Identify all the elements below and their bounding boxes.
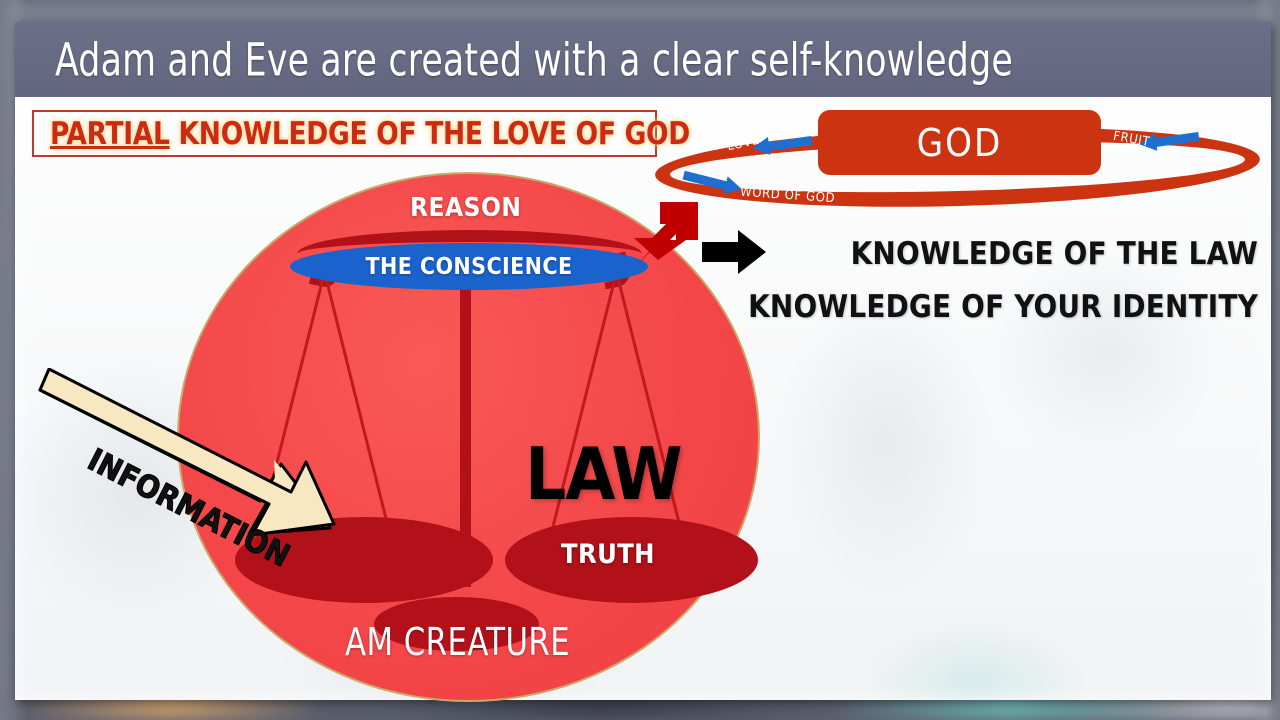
partial-knowledge-text: PARTIAL KNOWLEDGE OF THE LOVE OF GOD — [50, 116, 690, 152]
header-band: Adam and Eve are created with a clear se… — [15, 22, 1271, 97]
knowledge-callout-text: KNOWLEDGE OF THE LAW KNOWLEDGE OF YOUR I… — [728, 228, 1258, 335]
slide-stage: Adam and Eve are created with a clear se… — [0, 0, 1280, 720]
conscience-ellipse: THE CONSCIENCE — [290, 243, 648, 290]
knowledge-line-1: KNOWLEDGE OF THE LAW — [728, 228, 1258, 281]
partial-word: PARTIAL — [50, 116, 170, 152]
conscience-label: THE CONSCIENCE — [365, 254, 572, 280]
page-title: Adam and Eve are created with a clear se… — [55, 37, 1013, 82]
reason-label: REASON — [410, 193, 521, 223]
partial-rest: KNOWLEDGE OF THE LOVE OF GOD — [170, 116, 690, 152]
law-label: LAW — [525, 438, 682, 510]
partial-knowledge-banner: PARTIAL KNOWLEDGE OF THE LOVE OF GOD — [32, 110, 657, 157]
truth-label: TRUTH — [561, 539, 655, 570]
knowledge-line-2: KNOWLEDGE OF YOUR IDENTITY — [728, 281, 1258, 334]
god-box: GOD — [818, 110, 1101, 175]
am-creature-label: AM CREATURE — [345, 620, 570, 664]
information-arrow-banner: INFORMATION — [38, 368, 338, 528]
god-label: GOD — [917, 121, 1003, 165]
arrow-down-left-red-icon — [630, 198, 700, 268]
